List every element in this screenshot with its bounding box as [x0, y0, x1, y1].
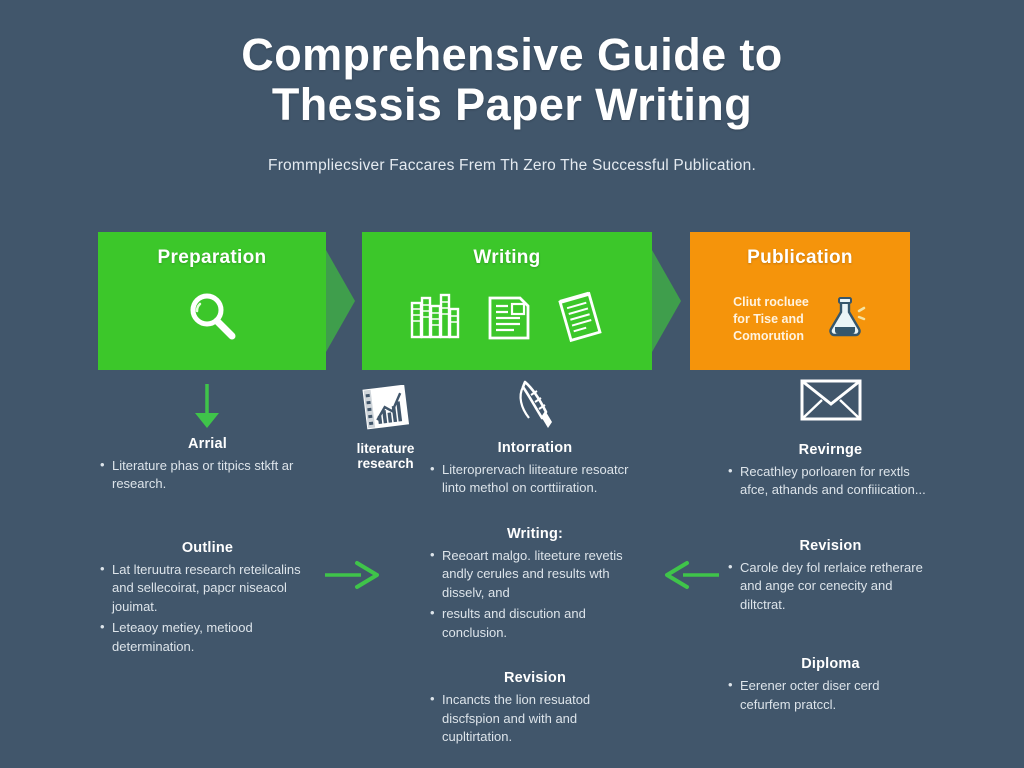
- literature-research-block: literature research: [343, 385, 428, 471]
- section-revision-writing: Revision Incancts the lion resuatod disc…: [430, 670, 640, 746]
- chevron-preparation-to-writing-icon: [326, 250, 355, 352]
- section-revirnge-bullets: Recathley porloaren for rextls afce, ath…: [728, 463, 933, 500]
- section-intorration-bullets: Literoprervach liiteature resoatcr linto…: [430, 461, 640, 498]
- list-item: Carole dey fol rerlaice retherare and an…: [728, 559, 933, 614]
- section-intorration-title: Intorration: [430, 440, 640, 456]
- banner-preparation[interactable]: Preparation: [98, 232, 326, 370]
- envelope-icon: [800, 378, 862, 427]
- section-revirnge: Revirnge Recathley porloaren for rextls …: [728, 442, 933, 500]
- column-preparation: Arrial Literature phas or titpics stkft …: [100, 378, 315, 666]
- banner-publication-label: Publication: [747, 247, 853, 269]
- list-item: Reeoart malgo. liteeture revetis andly c…: [430, 547, 640, 602]
- list-item: Literature phas or titpics stkft ar rese…: [100, 457, 315, 494]
- banner-preparation-label: Preparation: [158, 247, 267, 269]
- flask-icon: [823, 295, 867, 344]
- arrow-left-right-icon: [663, 558, 721, 597]
- section-arrial-title: Arrial: [100, 436, 315, 452]
- banner-preparation-icons: [98, 269, 326, 370]
- pen-icon: [512, 378, 558, 439]
- document-icon: [481, 290, 535, 349]
- arrow-right-mid-icon: [323, 558, 381, 597]
- section-outline: Outline Lat lteruutra research reteilcal…: [100, 540, 315, 656]
- banner-writing-icons: [362, 269, 652, 370]
- column-writing: Intorration Literoprervach liiteature re…: [430, 378, 640, 757]
- section-diploma-title: Diploma: [728, 656, 933, 672]
- chevron-writing-to-publication-icon: [652, 250, 681, 352]
- section-diploma-bullets: Eerener octer diser cerd cefurfem pratcc…: [728, 677, 933, 714]
- section-diploma: Diploma Eerener octer diser cerd cefurfe…: [728, 656, 933, 714]
- section-arrial-bullets: Literature phas or titpics stkft ar rese…: [100, 457, 315, 494]
- list-item: Leteaoy metiey, metiood determination.: [100, 619, 315, 656]
- page-subtitle: Frommpliecsiver Faccares Frem Th Zero Th…: [0, 157, 1024, 175]
- section-revision-writing-bullets: Incancts the lion resuatod discfspion an…: [430, 691, 640, 746]
- stage-banner-row: Preparation Writing: [0, 232, 1024, 370]
- banner-publication-note: Cliut rocluee for Tise and Comorution: [733, 294, 809, 345]
- section-revision-publication-bullets: Carole dey fol rerlaice retherare and an…: [728, 559, 933, 614]
- section-intorration: Intorration Literoprervach liiteature re…: [430, 440, 640, 498]
- chart-notebook-icon: [358, 420, 414, 437]
- section-revision-publication-title: Revision: [728, 538, 933, 554]
- section-revirnge-title: Revirnge: [728, 442, 933, 458]
- header: Comprehensive Guide to Thessis Paper Wri…: [0, 0, 1024, 175]
- section-revision-writing-title: Revision: [430, 670, 640, 686]
- section-arrial: Arrial Literature phas or titpics stkft …: [100, 436, 315, 494]
- column-publication: Revirnge Recathley porloaren for rextls …: [728, 378, 933, 724]
- banner-publication[interactable]: Publication Cliut rocluee for Tise and C…: [690, 232, 910, 370]
- books-icon: [407, 289, 463, 350]
- list-item: results and discution and conclusion.: [430, 605, 640, 642]
- column-writing-icon: [430, 378, 640, 440]
- section-writing: Writing: Reeoart malgo. liteeture reveti…: [430, 526, 640, 642]
- banner-publication-body: Cliut rocluee for Tise and Comorution: [690, 269, 910, 370]
- section-outline-title: Outline: [100, 540, 315, 556]
- section-writing-title: Writing:: [430, 526, 640, 542]
- section-revision-publication: Revision Carole dey fol rerlaice rethera…: [728, 538, 933, 614]
- notebook-icon: [553, 290, 607, 349]
- list-item: Eerener octer diser cerd cefurfem pratcc…: [728, 677, 933, 714]
- list-item: Incancts the lion resuatod discfspion an…: [430, 691, 640, 746]
- column-publication-icon: [728, 378, 933, 440]
- banner-writing[interactable]: Writing: [362, 232, 652, 370]
- page-title: Comprehensive Guide to Thessis Paper Wri…: [0, 30, 1024, 131]
- list-item: Lat lteruutra research reteilcalins and …: [100, 561, 315, 616]
- section-writing-bullets: Reeoart malgo. liteeture revetis andly c…: [430, 547, 640, 642]
- magnifier-icon: [183, 288, 241, 351]
- literature-research-label: literature research: [343, 441, 428, 471]
- list-item: Literoprervach liiteature resoatcr linto…: [430, 461, 640, 498]
- section-outline-bullets: Lat lteruutra research reteilcalins and …: [100, 561, 315, 656]
- banner-writing-label: Writing: [473, 247, 540, 269]
- list-item: Recathley porloaren for rextls afce, ath…: [728, 463, 933, 500]
